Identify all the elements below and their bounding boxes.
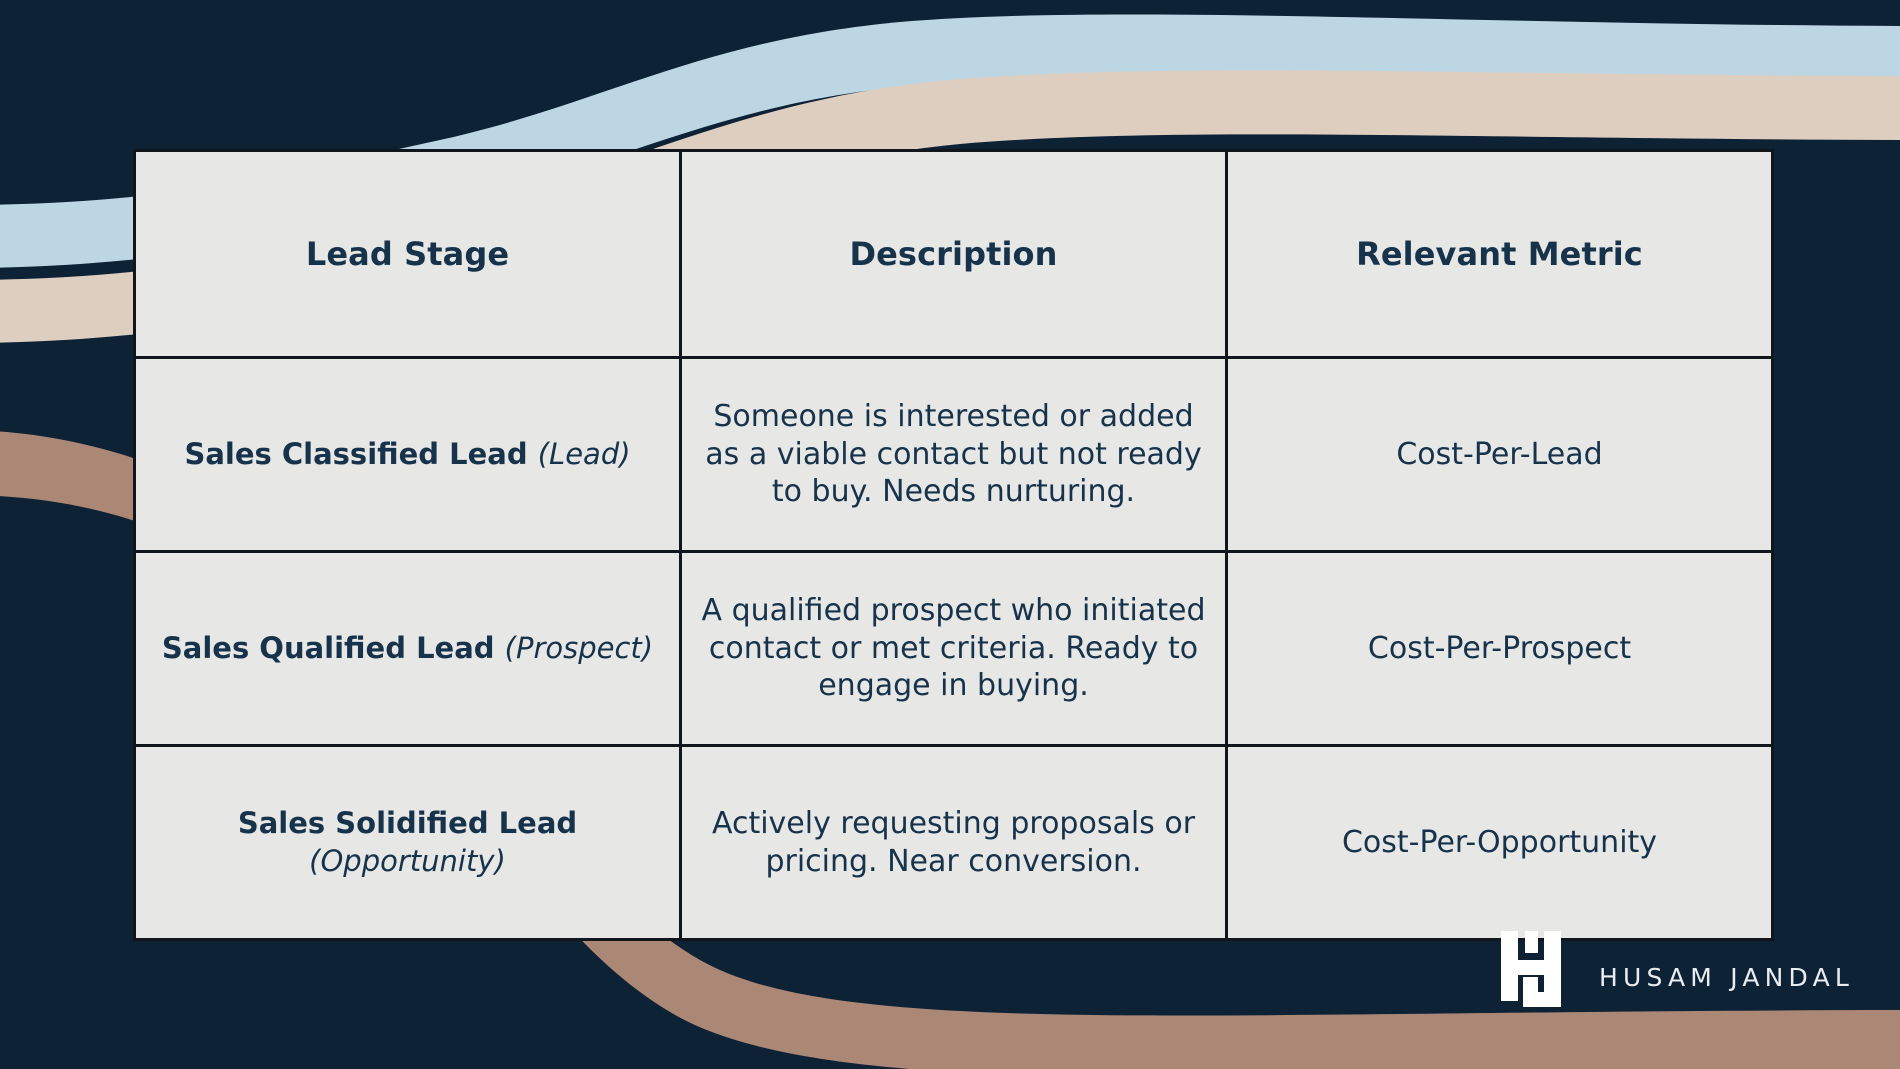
table-header-row: Lead Stage Description Relevant Metric [135, 151, 1773, 358]
lead-stage-table-wrapper: Lead Stage Description Relevant Metric S… [133, 149, 1771, 920]
cell-description: A qualified prospect who initiated conta… [681, 552, 1227, 746]
table-row: Sales Classified Lead (Lead) Someone is … [135, 358, 1773, 552]
cell-description: Actively requesting proposals or pricing… [681, 746, 1227, 940]
cell-relevant-metric: Cost-Per-Opportunity [1227, 746, 1773, 940]
lead-stage-name: Sales Qualified Lead [162, 631, 505, 665]
lead-stage-name: Sales Classified Lead [184, 437, 537, 471]
lead-stage-alias: (Prospect) [505, 631, 653, 665]
cell-lead-stage: Sales Qualified Lead (Prospect) [135, 552, 681, 746]
table-row: Sales Solidified Lead(Opportunity) Activ… [135, 746, 1773, 940]
hj-monogram-icon [1501, 931, 1577, 1023]
cell-description: Someone is interested or added as a viab… [681, 358, 1227, 552]
lead-stage-table: Lead Stage Description Relevant Metric S… [133, 149, 1774, 941]
column-header-relevant-metric: Relevant Metric [1227, 151, 1773, 358]
table-row: Sales Qualified Lead (Prospect) A qualif… [135, 552, 1773, 746]
brand-wordmark: HUSAM JANDAL [1599, 963, 1854, 992]
table-header: Lead Stage Description Relevant Metric [135, 151, 1773, 358]
lead-stage-name: Sales Solidified Lead [238, 806, 577, 840]
lead-stage-alias: (Lead) [538, 437, 631, 471]
lead-stage-alias: (Opportunity) [309, 844, 506, 878]
cell-lead-stage: Sales Solidified Lead(Opportunity) [135, 746, 681, 940]
column-header-lead-stage: Lead Stage [135, 151, 681, 358]
cell-relevant-metric: Cost-Per-Prospect [1227, 552, 1773, 746]
cell-relevant-metric: Cost-Per-Lead [1227, 358, 1773, 552]
cell-lead-stage: Sales Classified Lead (Lead) [135, 358, 681, 552]
column-header-description: Description [681, 151, 1227, 358]
brand-logo: HUSAM JANDAL [1501, 931, 1854, 1023]
slide-canvas: Lead Stage Description Relevant Metric S… [0, 0, 1900, 1069]
table-body: Sales Classified Lead (Lead) Someone is … [135, 358, 1773, 940]
